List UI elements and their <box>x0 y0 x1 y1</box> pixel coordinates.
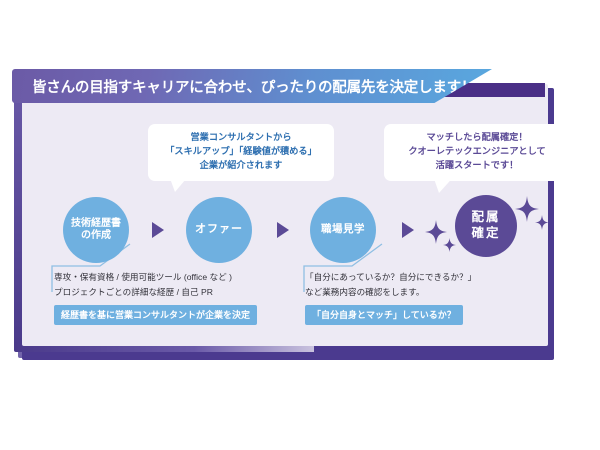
bubble-offer-line-2: 「スキルアップ」「経験値が積める」 <box>158 145 324 159</box>
flow-arrow-2-icon <box>277 222 289 238</box>
detail-resume-line-2: プロジェクトごとの詳細な経歴 / 自己 PR <box>54 285 257 300</box>
bubble-offer-line-1: 営業コンサルタントから <box>158 131 324 145</box>
banner-title: 皆さんの目指すキャリアに合わせ、ぴったりの配属先を決定します！ <box>32 76 475 97</box>
step-assignment-label: 配属 確定 <box>471 210 500 241</box>
bubble-assignment-line-2: クオーレテックエンジニアとして <box>394 145 560 159</box>
bubble-assignment-line-1: マッチしたら配属確定！ <box>394 131 560 145</box>
step-assignment-line-2: 確定 <box>471 226 500 240</box>
detail-worksite-highlight: 「自分自身とマッチ」しているか？ <box>305 305 463 325</box>
bubble-offer-line-3: 企業が紹介されます <box>158 159 324 173</box>
step-resume-line-1: 技術経歴書 <box>71 218 121 229</box>
detail-worksite: 「自分にあっているか？自分にできるか？」 など業務内容の確認をします。 「自分自… <box>305 270 476 325</box>
sparkle-icon-right-small <box>535 215 549 230</box>
flow-arrow-1-icon <box>152 222 164 238</box>
detail-worksite-line-1: 「自分にあっているか？自分にできるか？」 <box>305 270 476 285</box>
bubble-assignment-line-3: 活躍スタートです！ <box>394 159 560 173</box>
step-assignment-line-1: 配属 <box>471 210 500 224</box>
detail-resume-highlight: 経歴書を基に営業コンサルタントが企業を決定 <box>54 305 257 325</box>
step-resume-label: 技術経歴書 の作成 <box>71 218 121 243</box>
bubble-offer: 営業コンサルタントから 「スキルアップ」「経験値が積める」 企業が紹介されます <box>148 124 334 181</box>
header-banner: 皆さんの目指すキャリアに合わせ、ぴったりの配属先を決定します！ <box>12 69 492 103</box>
step-worksite: 職場見学 <box>310 197 376 263</box>
infographic-canvas: 皆さんの目指すキャリアに合わせ、ぴったりの配属先を決定します！ 営業コンサルタン… <box>0 0 600 450</box>
step-resume-line-2: の作成 <box>81 230 111 241</box>
step-resume: 技術経歴書 の作成 <box>63 197 129 263</box>
bubble-assignment: マッチしたら配属確定！ クオーレテックエンジニアとして 活躍スタートです！ <box>384 124 570 181</box>
detail-worksite-line-2: など業務内容の確認をします。 <box>305 285 476 300</box>
step-worksite-label: 職場見学 <box>321 223 365 236</box>
flow-arrow-3-icon <box>402 222 414 238</box>
step-offer: オファー <box>186 197 252 263</box>
step-assignment: 配属 確定 <box>455 195 517 257</box>
step-offer-label: オファー <box>195 223 243 237</box>
detail-resume: 専攻・保有資格 / 使用可能ツール (office など ) プロジェクトごとの… <box>54 270 257 325</box>
sparkle-icon-left-small <box>443 238 456 252</box>
detail-resume-line-1: 専攻・保有資格 / 使用可能ツール (office など ) <box>54 270 257 285</box>
